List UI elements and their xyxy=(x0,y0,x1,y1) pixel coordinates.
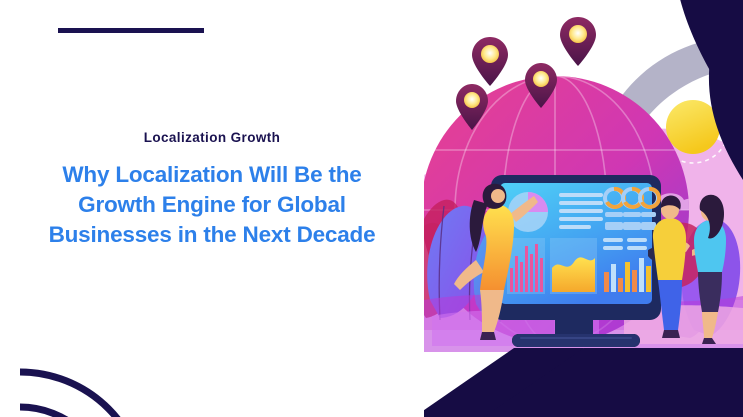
text-column: Localization Growth Why Localization Wil… xyxy=(0,130,424,251)
area-chart-widget xyxy=(550,238,597,294)
hero-illustration xyxy=(424,0,743,417)
top-rule-decoration xyxy=(58,28,204,33)
arc-middle xyxy=(20,407,110,417)
eyebrow-label: Localization Growth xyxy=(0,130,424,146)
page-title: Why Localization Will Be the Growth Engi… xyxy=(0,160,424,250)
banner-root: Localization Growth Why Localization Wil… xyxy=(0,0,743,417)
corner-arcs-decoration xyxy=(0,317,160,417)
bar-chart-widget xyxy=(507,238,545,294)
